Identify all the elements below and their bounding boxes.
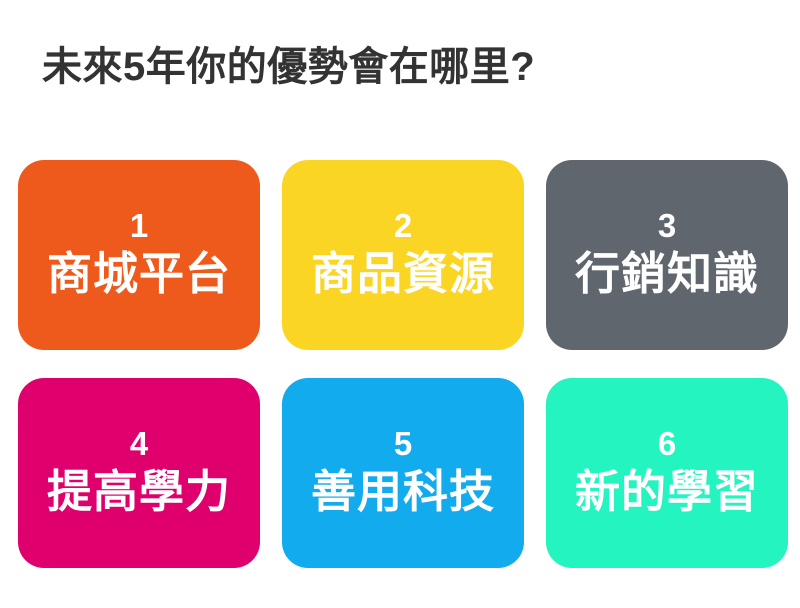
card-2-label: 商品資源 xyxy=(311,250,495,297)
card-4-number: 4 xyxy=(130,427,148,460)
card-1-label: 商城平台 xyxy=(47,250,231,297)
page-title: 未來5年你的優勢會在哪里? xyxy=(42,44,535,90)
card-2[interactable]: 2 商品資源 xyxy=(282,160,524,350)
card-6-number: 6 xyxy=(658,427,676,460)
card-1[interactable]: 1 商城平台 xyxy=(18,160,260,350)
card-2-number: 2 xyxy=(394,209,412,242)
card-5-label: 善用科技 xyxy=(311,468,495,515)
card-6-label: 新的學習 xyxy=(575,468,759,515)
card-3-label: 行銷知識 xyxy=(575,250,759,297)
card-grid: 1 商城平台 2 商品資源 3 行銷知識 4 提高學力 5 善用科技 6 新的學… xyxy=(18,160,800,570)
card-5[interactable]: 5 善用科技 xyxy=(282,378,524,568)
card-5-number: 5 xyxy=(394,427,412,460)
card-1-number: 1 xyxy=(130,209,148,242)
card-4[interactable]: 4 提高學力 xyxy=(18,378,260,568)
slide-canvas: 未來5年你的優勢會在哪里? 1 商城平台 2 商品資源 3 行銷知識 4 提高學… xyxy=(0,0,800,608)
card-4-label: 提高學力 xyxy=(47,468,231,515)
card-6[interactable]: 6 新的學習 xyxy=(546,378,788,568)
card-3[interactable]: 3 行銷知識 xyxy=(546,160,788,350)
card-3-number: 3 xyxy=(658,209,676,242)
